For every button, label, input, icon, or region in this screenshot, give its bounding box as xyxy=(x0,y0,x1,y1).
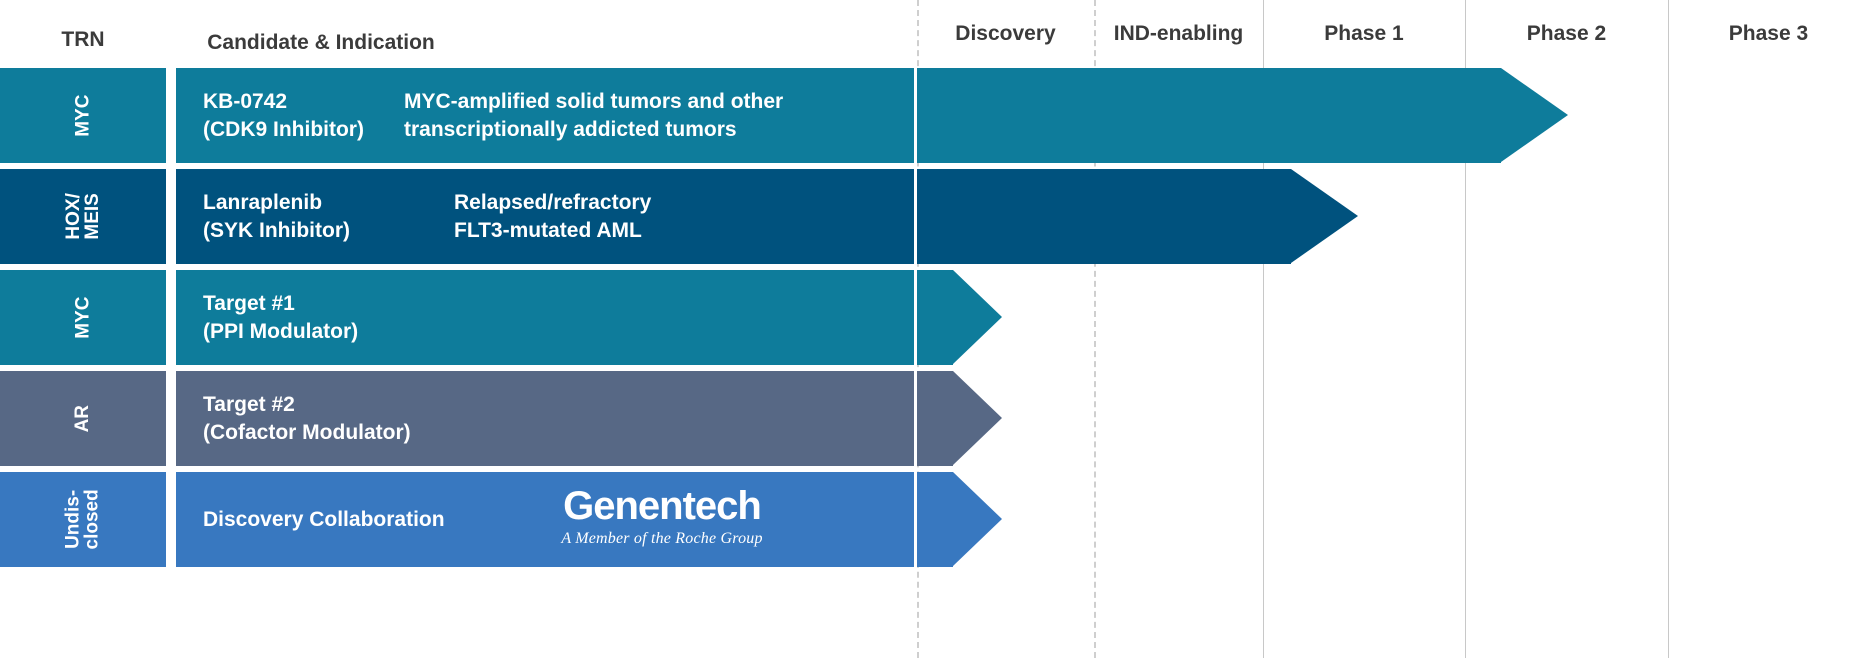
header-phase-1: Phase 1 xyxy=(1263,22,1465,46)
trn-cell: Undis- closed xyxy=(0,472,166,567)
trn-label: HOX/ MEIS xyxy=(64,193,103,239)
candidate-cell: Target #2 (Cofactor Modulator) xyxy=(176,371,914,466)
pipeline-row[interactable]: MYC KB-0742 (CDK9 Inhibitor) MYC-amplifi… xyxy=(0,68,1869,163)
progress-bar-body xyxy=(917,270,953,365)
progress-bar-body xyxy=(917,472,953,567)
candidate-name: Target #1 (PPI Modulator) xyxy=(203,290,358,345)
indication-text: Relapsed/refractory FLT3-mutated AML xyxy=(454,189,651,244)
partner-logo-wordmark: Genentech xyxy=(522,486,802,526)
pipeline-row[interactable]: MYC Target #1 (PPI Modulator) xyxy=(0,270,1869,365)
header-phase-3: Phase 3 xyxy=(1668,22,1869,46)
candidate-cell: Lanraplenib (SYK Inhibitor) Relapsed/ref… xyxy=(176,169,914,264)
progress-bar-body xyxy=(917,68,1501,163)
header-phase-discovery: Discovery xyxy=(917,22,1094,46)
pipeline-chart: TRN Candidate & Indication Discovery IND… xyxy=(0,0,1869,658)
partner-logo-genentech: Genentech A Member of the Roche Group xyxy=(522,486,802,547)
trn-label: Undis- closed xyxy=(64,489,103,549)
candidate-name: Discovery Collaboration xyxy=(203,506,445,534)
trn-label: MYC xyxy=(73,94,92,136)
trn-label: MYC xyxy=(73,296,92,338)
candidate-cell: KB-0742 (CDK9 Inhibitor) MYC-amplified s… xyxy=(176,68,914,163)
pipeline-row[interactable]: Undis- closed Discovery Collaboration Ge… xyxy=(0,472,1869,567)
progress-bar-body xyxy=(917,371,953,466)
progress-bar-body xyxy=(917,169,1291,264)
header-trn: TRN xyxy=(0,28,166,52)
progress-bar-arrowhead xyxy=(953,371,1002,465)
candidate-name: KB-0742 (CDK9 Inhibitor) xyxy=(203,88,364,143)
progress-bar-arrowhead xyxy=(953,270,1002,364)
header-phase-2: Phase 2 xyxy=(1465,22,1668,46)
trn-cell: MYC xyxy=(0,68,166,163)
progress-bar-arrowhead xyxy=(1291,169,1358,263)
candidate-cell: Discovery Collaboration Genentech A Memb… xyxy=(176,472,914,567)
trn-label: AR xyxy=(73,405,92,432)
indication-text: MYC-amplified solid tumors and other tra… xyxy=(404,88,783,143)
progress-bar-arrowhead xyxy=(953,472,1002,566)
header-phase-ind-enabling: IND-enabling xyxy=(1094,22,1263,46)
partner-logo-tagline: A Member of the Roche Group xyxy=(522,531,802,547)
pipeline-header: TRN Candidate & Indication Discovery IND… xyxy=(0,0,1869,66)
pipeline-row[interactable]: HOX/ MEIS Lanraplenib (SYK Inhibitor) Re… xyxy=(0,169,1869,264)
candidate-name: Lanraplenib (SYK Inhibitor) xyxy=(203,189,350,244)
trn-cell: MYC xyxy=(0,270,166,365)
progress-bar-arrowhead xyxy=(1501,68,1568,162)
header-candidate: Candidate & Indication xyxy=(176,31,466,55)
trn-cell: AR xyxy=(0,371,166,466)
trn-cell: HOX/ MEIS xyxy=(0,169,166,264)
candidate-name: Target #2 (Cofactor Modulator) xyxy=(203,391,411,446)
candidate-cell: Target #1 (PPI Modulator) xyxy=(176,270,914,365)
pipeline-row[interactable]: AR Target #2 (Cofactor Modulator) xyxy=(0,371,1869,466)
